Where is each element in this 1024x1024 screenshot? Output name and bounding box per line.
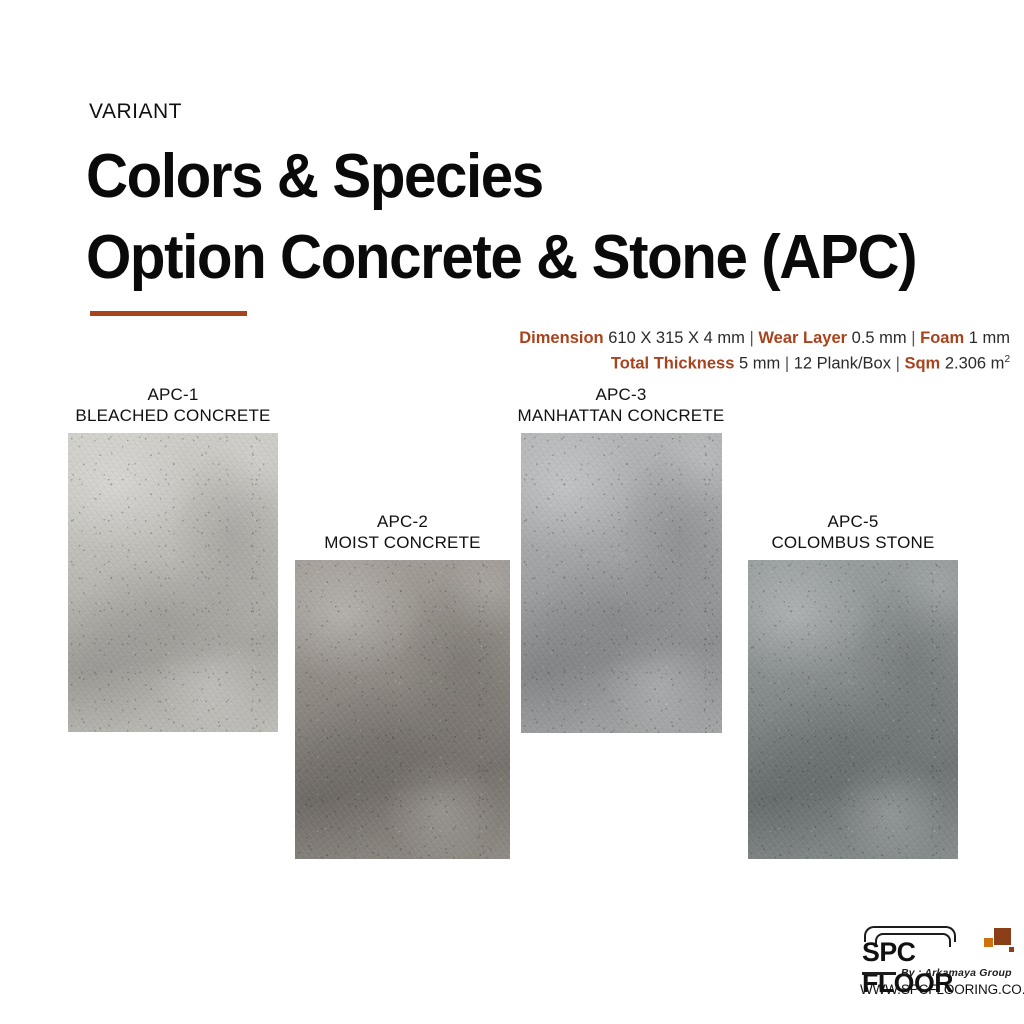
swatch-tile-image[interactable] xyxy=(68,433,278,732)
spec-line-1: Dimension 610 X 315 X 4 mm | Wear Layer … xyxy=(370,327,1010,349)
swatch-name: MANHATTAN CONCRETE xyxy=(516,405,726,426)
swatch-caption: APC-1 BLEACHED CONCRETE xyxy=(68,384,278,426)
swatch-group-apc-2[interactable]: APC-2 MOIST CONCRETE xyxy=(295,511,510,859)
swatch-tile-image[interactable] xyxy=(521,433,722,733)
swatch-caption: APC-5 COLOMBUS STONE xyxy=(748,511,958,553)
brand-byline-row: By : Arkamaya Group xyxy=(862,967,1014,979)
swatch-code: APC-2 xyxy=(295,511,510,532)
swatch-caption: APC-3 MANHATTAN CONCRETE xyxy=(516,384,726,426)
swatch-texture-speckle xyxy=(295,560,510,859)
byline-rule xyxy=(862,972,896,975)
specification-block: Dimension 610 X 315 X 4 mm | Wear Layer … xyxy=(370,327,1010,375)
spec-separator: | xyxy=(896,355,900,373)
spec-line-2: Total Thickness 5 mm | 12 Plank/Box | Sq… xyxy=(370,349,1010,375)
brand-byline: By : Arkamaya Group xyxy=(901,967,1012,979)
spec-separator: | xyxy=(749,329,753,347)
brand-logo[interactable]: SPC FLOOR By : Arkamaya Group WWW.SPCFLO… xyxy=(862,926,1014,970)
spec-sqm-value: 2.306 m xyxy=(945,355,1005,373)
swatch-code: APC-3 xyxy=(516,384,726,405)
spec-total-thickness-value: 5 mm xyxy=(739,355,780,373)
spec-separator: | xyxy=(785,355,789,373)
spec-total-thickness-label: Total Thickness xyxy=(611,355,734,373)
spec-sqm-unit-exponent: 2 xyxy=(1004,354,1010,365)
spec-foam-value: 1 mm xyxy=(969,329,1010,347)
logo-mark: SPC FLOOR By : Arkamaya Group xyxy=(862,926,1014,970)
spec-wear-layer-label: Wear Layer xyxy=(758,329,847,347)
spec-dimension-label: Dimension xyxy=(519,329,603,347)
swatch-texture-speckle xyxy=(748,560,958,859)
swatch-code: APC-1 xyxy=(68,384,278,405)
swatch-code: APC-5 xyxy=(748,511,958,532)
swatch-group-apc-5[interactable]: APC-5 COLOMBUS STONE xyxy=(748,511,958,859)
eyebrow-label: VARIANT xyxy=(89,100,182,124)
spec-foam-label: Foam xyxy=(920,329,964,347)
spec-sqm-label: Sqm xyxy=(904,355,940,373)
spec-dimension-value: 610 X 315 X 4 mm xyxy=(608,329,745,347)
swatch-tile-image[interactable] xyxy=(295,560,510,859)
square-accent-dot-icon xyxy=(1009,947,1014,952)
brand-website-url[interactable]: WWW.SPCFLOORING.CO.ID xyxy=(860,982,1016,997)
swatch-caption: APC-2 MOIST CONCRETE xyxy=(295,511,510,553)
title-accent-rule xyxy=(90,311,247,316)
swatch-group-apc-1[interactable]: APC-1 BLEACHED CONCRETE xyxy=(68,384,278,732)
square-accent-large-icon xyxy=(994,928,1011,945)
swatch-name: MOIST CONCRETE xyxy=(295,532,510,553)
page-title-line-2: Option Concrete & Stone (APC) xyxy=(86,227,916,289)
spec-separator: | xyxy=(911,329,915,347)
spec-wear-layer-value: 0.5 mm xyxy=(852,329,907,347)
spec-plank-per-box: 12 Plank/Box xyxy=(794,355,891,373)
swatch-name: COLOMBUS STONE xyxy=(748,532,958,553)
swatch-name: BLEACHED CONCRETE xyxy=(68,405,278,426)
page-title-line-1: Colors & Species xyxy=(86,146,543,208)
swatch-group-apc-3[interactable]: APC-3 MANHATTAN CONCRETE xyxy=(516,384,726,733)
swatch-tile-image[interactable] xyxy=(748,560,958,859)
square-accent-small-icon xyxy=(984,938,993,947)
swatch-texture-speckle xyxy=(68,433,278,732)
swatch-texture-speckle xyxy=(521,433,722,733)
poster-canvas: VARIANT Colors & Species Option Concrete… xyxy=(0,0,1024,1024)
